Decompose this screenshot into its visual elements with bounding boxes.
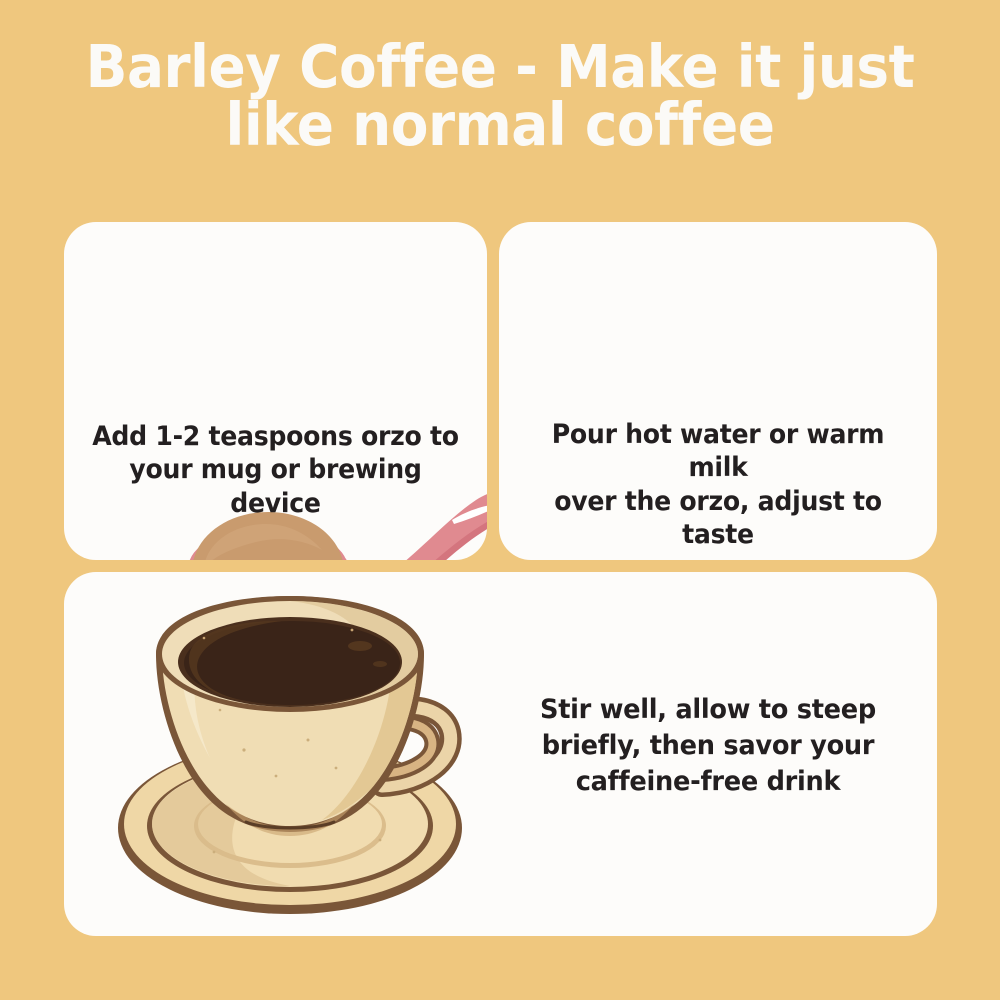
step-card-3: Stir well, allow to steep briefly, then … bbox=[64, 572, 937, 936]
step-card-1: Add 1-2 teaspoons orzo to your mug or br… bbox=[64, 222, 487, 560]
step-card-2: Pour hot water or warm milk over the orz… bbox=[499, 222, 937, 560]
infographic-canvas: Barley Coffee - Make it just like normal… bbox=[0, 0, 1000, 1000]
step-1-caption: Add 1-2 teaspoons orzo to your mug or br… bbox=[84, 420, 467, 520]
page-title: Barley Coffee - Make it just like normal… bbox=[35, 38, 965, 155]
step-2-caption: Pour hot water or warm milk over the orz… bbox=[523, 418, 913, 552]
step-3-caption: Stir well, allow to steep briefly, then … bbox=[499, 692, 917, 800]
coffee-cup-and-saucer-icon bbox=[94, 590, 494, 920]
